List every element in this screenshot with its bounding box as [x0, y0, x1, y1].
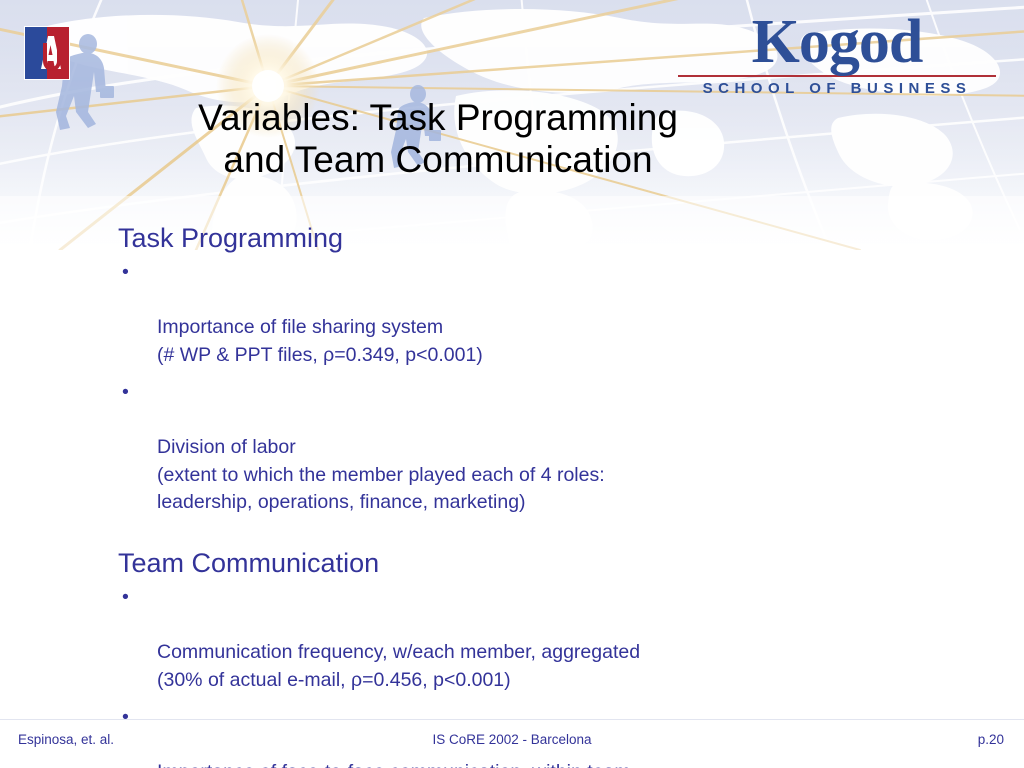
list-item: • Importance of file sharing system (# W…: [118, 259, 948, 370]
footer-divider: [0, 719, 1024, 720]
list-item-text: Importance of face-to-face communication…: [157, 761, 636, 768]
slide-body: Task Programming • Importance of file sh…: [118, 222, 948, 768]
list-item: • Division of labor (extent to which the…: [118, 379, 948, 517]
list-item-text: Communication frequency, w/each member, …: [157, 641, 640, 691]
list-item: • Communication frequency, w/each member…: [118, 584, 948, 695]
section-task-programming: Task Programming • Importance of file sh…: [118, 222, 948, 517]
kogod-wordmark: Kogod: [672, 12, 1002, 73]
presentation-slide: Kogod SCHOOL OF BUSINESS Variables: Task…: [0, 0, 1024, 768]
bullet-dot-icon: •: [122, 379, 129, 407]
footer-conference: IS CoRE 2002 - Barcelona: [0, 732, 1024, 747]
american-university-au-logo: [24, 26, 70, 80]
kogod-subtitle: SCHOOL OF BUSINESS: [672, 80, 1002, 97]
list-item-text: Division of labor (extent to which the m…: [157, 436, 605, 513]
kogod-school-of-business-logo: Kogod SCHOOL OF BUSINESS: [672, 12, 1002, 97]
slide-title: Variables: Task Programming and Team Com…: [108, 97, 768, 181]
section-heading-team-communication: Team Communication: [118, 547, 948, 580]
section-heading-task-programming: Task Programming: [118, 222, 948, 255]
list-item-text: Importance of file sharing system (# WP …: [157, 316, 483, 366]
bullet-dot-icon: •: [122, 704, 129, 732]
bullet-dot-icon: •: [122, 259, 129, 287]
bullet-dot-icon: •: [122, 584, 129, 612]
footer-page-number: p.20: [978, 732, 1004, 747]
bullet-list-task-programming: • Importance of file sharing system (# W…: [118, 259, 948, 517]
slide-footer: Espinosa, et. al. IS CoRE 2002 - Barcelo…: [0, 732, 1024, 762]
